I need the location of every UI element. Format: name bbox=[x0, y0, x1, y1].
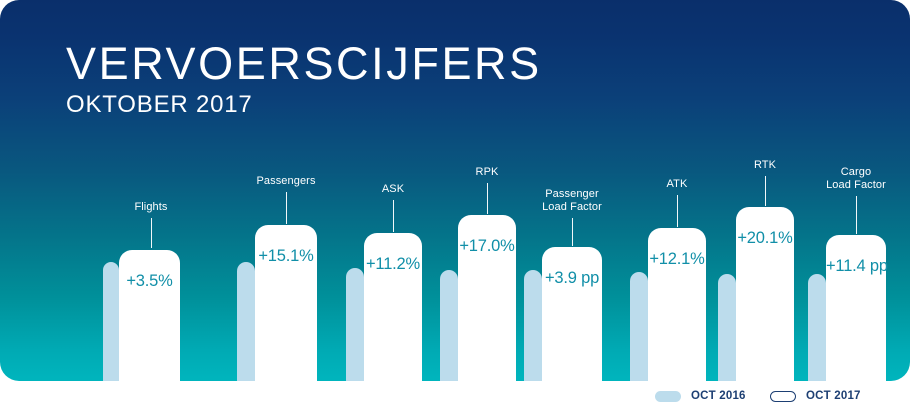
bar-category-2: ASK bbox=[358, 183, 428, 196]
bar-value-4: +3.9 pp bbox=[542, 269, 602, 288]
bar-2016-7 bbox=[808, 274, 826, 381]
leader-line-0 bbox=[151, 218, 152, 248]
bar-2016-2 bbox=[346, 268, 364, 381]
legend-swatch-icon-0 bbox=[655, 391, 681, 402]
leader-line-4 bbox=[572, 218, 573, 246]
bar-2016-4 bbox=[524, 270, 542, 381]
leader-line-3 bbox=[487, 183, 488, 214]
leader-line-1 bbox=[286, 192, 287, 224]
legend-item-1[interactable]: OCT 2017 bbox=[770, 381, 861, 411]
bar-value-3: +17.0% bbox=[458, 237, 516, 256]
bar-value-7: +11.4 pp bbox=[826, 257, 886, 276]
bar-value-6: +20.1% bbox=[736, 229, 794, 248]
bar-2016-6 bbox=[718, 274, 736, 381]
infographic-root: VERVOERSCIJFERS OKTOBER 2017 +3.5%Flight… bbox=[0, 0, 910, 411]
bar-value-2: +11.2% bbox=[364, 255, 422, 274]
bar-chart: +3.5%Flights+15.1%Passengers+11.2%ASK+17… bbox=[0, 0, 910, 381]
leader-line-2 bbox=[393, 200, 394, 232]
leader-line-6 bbox=[765, 176, 766, 206]
bar-2016-0 bbox=[103, 262, 119, 381]
bar-category-0: Flights bbox=[116, 201, 186, 214]
bar-category-5: ATK bbox=[642, 178, 712, 191]
legend-item-0[interactable]: OCT 2016 bbox=[655, 381, 746, 411]
bar-2017-4 bbox=[542, 247, 602, 381]
bar-2016-3 bbox=[440, 270, 458, 381]
bar-2016-5 bbox=[630, 272, 648, 381]
leader-line-7 bbox=[856, 196, 857, 234]
bar-value-1: +15.1% bbox=[255, 247, 317, 266]
leader-line-5 bbox=[677, 195, 678, 227]
legend-swatch-icon-1 bbox=[770, 391, 796, 402]
bar-category-1: Passengers bbox=[241, 175, 331, 188]
bar-category-7: Cargo Load Factor bbox=[813, 166, 899, 191]
bar-category-6: RTK bbox=[730, 159, 800, 172]
bar-category-4: Passenger Load Factor bbox=[527, 188, 617, 213]
legend-label-0: OCT 2016 bbox=[691, 390, 746, 402]
bar-2016-1 bbox=[237, 262, 255, 381]
bar-value-0: +3.5% bbox=[119, 272, 180, 291]
bar-category-3: RPK bbox=[452, 166, 522, 179]
legend-label-1: OCT 2017 bbox=[806, 390, 861, 402]
bar-value-5: +12.1% bbox=[648, 250, 706, 269]
bar-2017-0 bbox=[119, 250, 180, 381]
chart-legend: OCT 2016OCT 2017 bbox=[0, 381, 910, 411]
gradient-panel: VERVOERSCIJFERS OKTOBER 2017 +3.5%Flight… bbox=[0, 0, 910, 381]
